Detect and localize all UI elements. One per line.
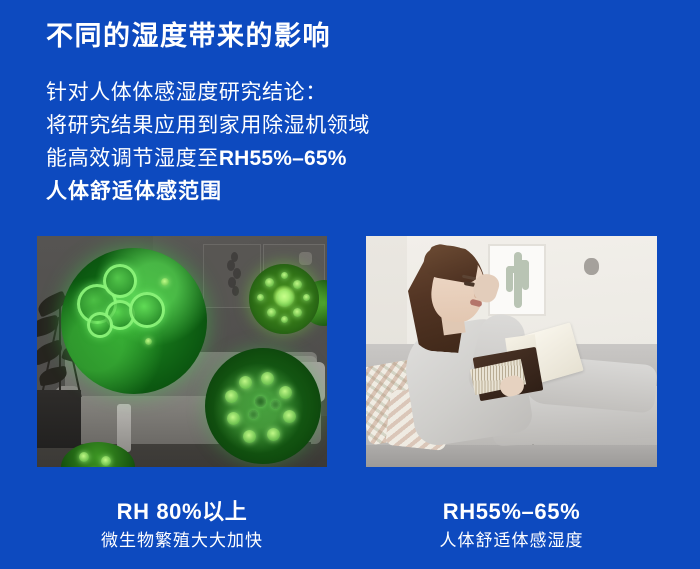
caption-subtitle: 人体舒适体感湿度: [366, 528, 657, 554]
germ-sphere-medium: [249, 264, 319, 334]
photo-high-humidity: [37, 236, 327, 467]
sofa-base: [366, 445, 657, 467]
intro-line-3: 能高效调节湿度至RH55%–65%: [46, 142, 370, 175]
intro-humidity-range: RH55%–65%: [219, 147, 347, 170]
caption-title: RH 80%以上: [37, 498, 327, 526]
intro-line-1: 针对人体体感湿度研究结论：: [46, 76, 370, 109]
intro-line-3-text: 能高效调节湿度至: [46, 147, 219, 170]
bright-living-room-scene: [366, 236, 657, 467]
cactus-artwork-icon: [506, 252, 528, 308]
dim-living-room-scene: [37, 236, 327, 467]
photo-comfort-humidity: [366, 236, 657, 467]
caption-comfort-humidity: RH55%–65% 人体舒适体感湿度: [366, 498, 657, 554]
floor-lamp: [117, 404, 131, 452]
intro-line-4: 人体舒适体感范围: [46, 175, 370, 208]
caption-high-humidity: RH 80%以上 微生物繁殖大大加快: [37, 498, 327, 554]
germ-sphere-bottom: [205, 348, 321, 464]
wall-knob-icon: [584, 258, 599, 275]
germ-sphere-large: [61, 248, 207, 394]
intro-line-2: 将研究结果应用到家用除湿机领域: [46, 109, 370, 142]
promo-page: 不同的湿度带来的影响 针对人体体感湿度研究结论： 将研究结果应用到家用除湿机领域…: [0, 0, 700, 569]
wall-knob-icon: [299, 252, 312, 265]
page-title: 不同的湿度带来的影响: [46, 20, 331, 54]
caption-subtitle: 微生物繁殖大大加快: [37, 528, 327, 554]
plant-pot: [37, 390, 81, 448]
caption-title: RH55%–65%: [366, 498, 657, 526]
intro-paragraph: 针对人体体感湿度研究结论： 将研究结果应用到家用除湿机领域 能高效调节湿度至RH…: [46, 76, 370, 208]
branch-artwork-icon: [223, 252, 245, 298]
